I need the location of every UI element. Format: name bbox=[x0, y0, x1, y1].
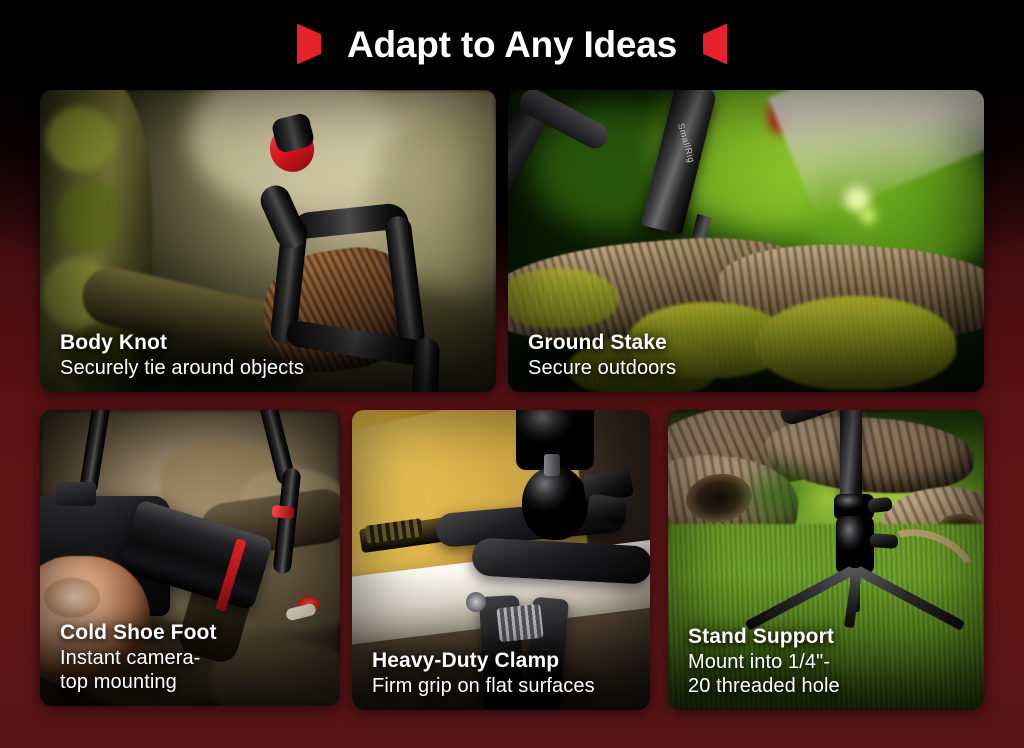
card-subtitle-line-1: Instant camera- bbox=[60, 646, 217, 670]
page-title: Adapt to Any Ideas bbox=[347, 26, 677, 63]
card-title: Cold Shoe Foot bbox=[60, 621, 217, 646]
feature-card-cold-shoe-foot[interactable]: Cold Shoe Foot Instant camera- top mount… bbox=[40, 410, 340, 706]
card-title: Heavy-Duty Clamp bbox=[372, 649, 595, 674]
feature-card-stand-support[interactable]: Stand Support Mount into 1/4"- 20 thread… bbox=[668, 410, 984, 710]
card-subtitle-line-1: Mount into 1/4"- bbox=[688, 650, 840, 674]
card-caption-heavy-duty-clamp: Heavy-Duty Clamp Firm grip on flat surfa… bbox=[372, 649, 595, 698]
card-subtitle-line-2: 20 threaded hole bbox=[688, 674, 840, 698]
card-caption-stand-support: Stand Support Mount into 1/4"- 20 thread… bbox=[688, 625, 840, 698]
card-subtitle-line-2: top mounting bbox=[60, 670, 217, 694]
feature-card-heavy-duty-clamp[interactable]: Heavy-Duty Clamp Firm grip on flat surfa… bbox=[352, 410, 650, 710]
left-red-arrow-marker-icon bbox=[297, 24, 321, 65]
card-subtitle: Firm grip on flat surfaces bbox=[372, 674, 595, 698]
feature-card-ground-stake[interactable]: SmallRig Ground Stake Secure outdoors bbox=[508, 90, 984, 392]
promo-banner: Adapt to Any Ideas bbox=[0, 0, 1024, 748]
right-red-arrow-marker-icon bbox=[703, 24, 727, 65]
card-subtitle: Securely tie around objects bbox=[60, 356, 304, 380]
card-title: Stand Support bbox=[688, 625, 840, 650]
card-title: Ground Stake bbox=[528, 331, 676, 356]
card-subtitle: Secure outdoors bbox=[528, 356, 676, 380]
card-caption-cold-shoe-foot: Cold Shoe Foot Instant camera- top mount… bbox=[60, 621, 217, 694]
feature-card-body-knot[interactable]: Body Knot Securely tie around objects bbox=[40, 90, 496, 392]
banner-header: Adapt to Any Ideas bbox=[0, 0, 1024, 88]
card-caption-ground-stake: Ground Stake Secure outdoors bbox=[528, 331, 676, 380]
card-caption-body-knot: Body Knot Securely tie around objects bbox=[60, 331, 304, 380]
card-title: Body Knot bbox=[60, 331, 304, 356]
